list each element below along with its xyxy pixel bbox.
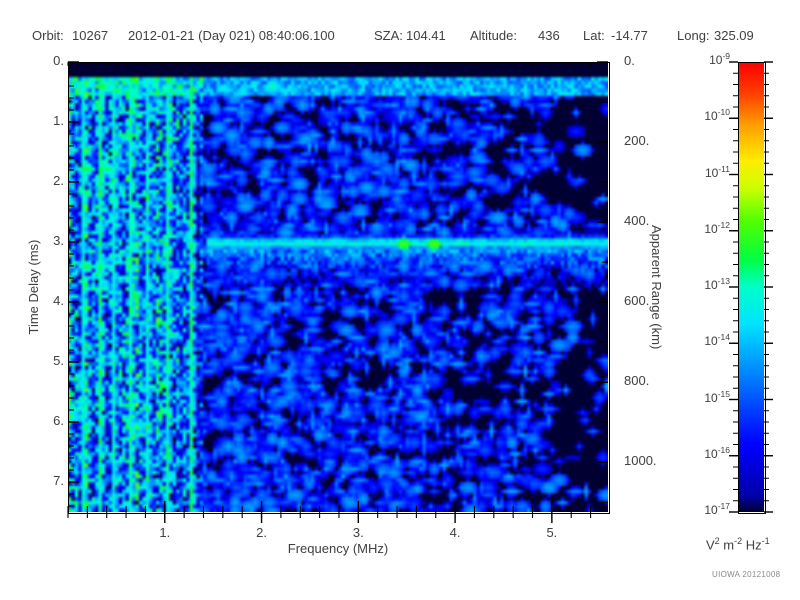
y2-tick-label-3: 600. — [624, 293, 684, 308]
y2-tick-label-4: 800. — [624, 373, 684, 388]
spectrogram-plot-area — [68, 62, 608, 512]
sza-label: SZA: — [374, 28, 403, 43]
orbit-value: 10267 — [72, 28, 108, 43]
y-tick-label-0: 0. — [20, 53, 64, 68]
x-tick-label-3: 4. — [425, 525, 485, 540]
long-label: Long: — [677, 28, 710, 43]
altitude-value: 436 — [538, 28, 560, 43]
y-tick-label-2: 2. — [20, 173, 64, 188]
y-tick-label-1: 1. — [20, 113, 64, 128]
y-tick-label-4: 4. — [20, 293, 64, 308]
y-tick-label-5: 5. — [20, 353, 64, 368]
x-axis-title-frequency: Frequency (MHz) — [68, 541, 608, 556]
y2-tick-label-2: 400. — [624, 213, 684, 228]
y-tick-label-7: 7. — [20, 473, 64, 488]
long-value: 325.09 — [714, 28, 754, 43]
y2-tick-label-5: 1000. — [624, 453, 684, 468]
y2-tick-label-0: 0. — [624, 53, 684, 68]
colorbar-tick-label-5: 10-14 — [680, 332, 730, 348]
colorbar-tick-label-1: 10-10 — [680, 107, 730, 123]
y-axis-title-time-delay: Time Delay (ms) — [26, 240, 41, 335]
colorbar-tick-label-7: 10-16 — [680, 445, 730, 461]
sza-value: 104.41 — [406, 28, 446, 43]
ionogram-figure: Orbit: 10267 2012-01-21 (Day 021) 08:40:… — [0, 0, 800, 600]
y-tick-label-3: 3. — [20, 233, 64, 248]
colorbar-gradient — [738, 62, 764, 512]
colorbar-tick-label-0: 10-9 — [680, 51, 730, 67]
colorbar-tick-label-4: 10-13 — [680, 276, 730, 292]
datetime-value: 2012-01-21 (Day 021) 08:40:06.100 — [128, 28, 335, 43]
colorbar-tick-label-8: 10-17 — [680, 501, 730, 517]
altitude-label: Altitude: — [470, 28, 517, 43]
y-tick-label-6: 6. — [20, 413, 64, 428]
lat-label: Lat: — [583, 28, 605, 43]
y2-tick-label-1: 200. — [624, 133, 684, 148]
lat-value: -14.77 — [611, 28, 648, 43]
header-metadata: Orbit: 10267 2012-01-21 (Day 021) 08:40:… — [0, 28, 800, 48]
orbit-label: Orbit: — [32, 28, 64, 43]
x-tick-label-4: 5. — [522, 525, 582, 540]
colorbar-units-label: V2 m-2 Hz-1 — [706, 536, 770, 552]
colorbar-tick-label-3: 10-12 — [680, 220, 730, 236]
colorbar-tick-label-2: 10-11 — [680, 164, 730, 180]
colorbar-tick-label-6: 10-15 — [680, 389, 730, 405]
spectrogram-canvas — [68, 62, 608, 512]
x-tick-label-0: 1. — [135, 525, 195, 540]
y2-axis-title-apparent-range: Apparent Range (km) — [649, 225, 664, 349]
colorbar — [738, 62, 764, 512]
x-tick-label-2: 3. — [328, 525, 388, 540]
credit-footer: UIOWA 20121008 — [712, 570, 780, 579]
x-tick-label-1: 2. — [232, 525, 292, 540]
